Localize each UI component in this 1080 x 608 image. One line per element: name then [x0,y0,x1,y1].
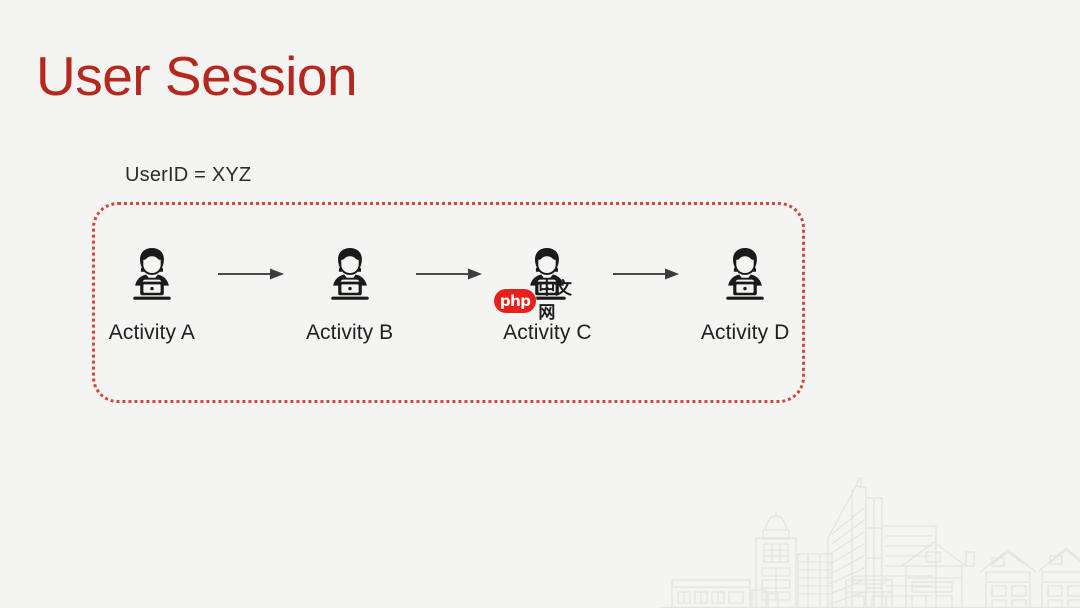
activity-label: Activity C [503,321,592,345]
activity-item-d[interactable]: Activity D [685,244,805,345]
activity-label: Activity D [701,321,790,345]
person-laptop-icon [324,244,376,304]
activity-label: Activity B [306,321,393,345]
activity-flow: Activity A [92,202,805,403]
slide-canvas: User Session UserID = XYZ [0,0,1080,608]
arrow-right-icon [607,244,685,304]
person-laptop-icon [521,244,573,304]
arrow-right-icon [410,244,488,304]
arrow-right-icon [212,244,290,304]
person-laptop-icon [126,244,178,304]
person-laptop-icon [719,244,771,304]
activity-item-b[interactable]: Activity B [290,244,410,345]
userid-label: UserID = XYZ [125,164,251,187]
page-title: User Session [36,46,357,108]
activity-label: Activity A [109,321,195,345]
cityscape-illustration-icon [660,468,1080,608]
activity-item-c[interactable]: Activity C [488,244,608,345]
activity-item-a[interactable]: Activity A [92,244,212,345]
